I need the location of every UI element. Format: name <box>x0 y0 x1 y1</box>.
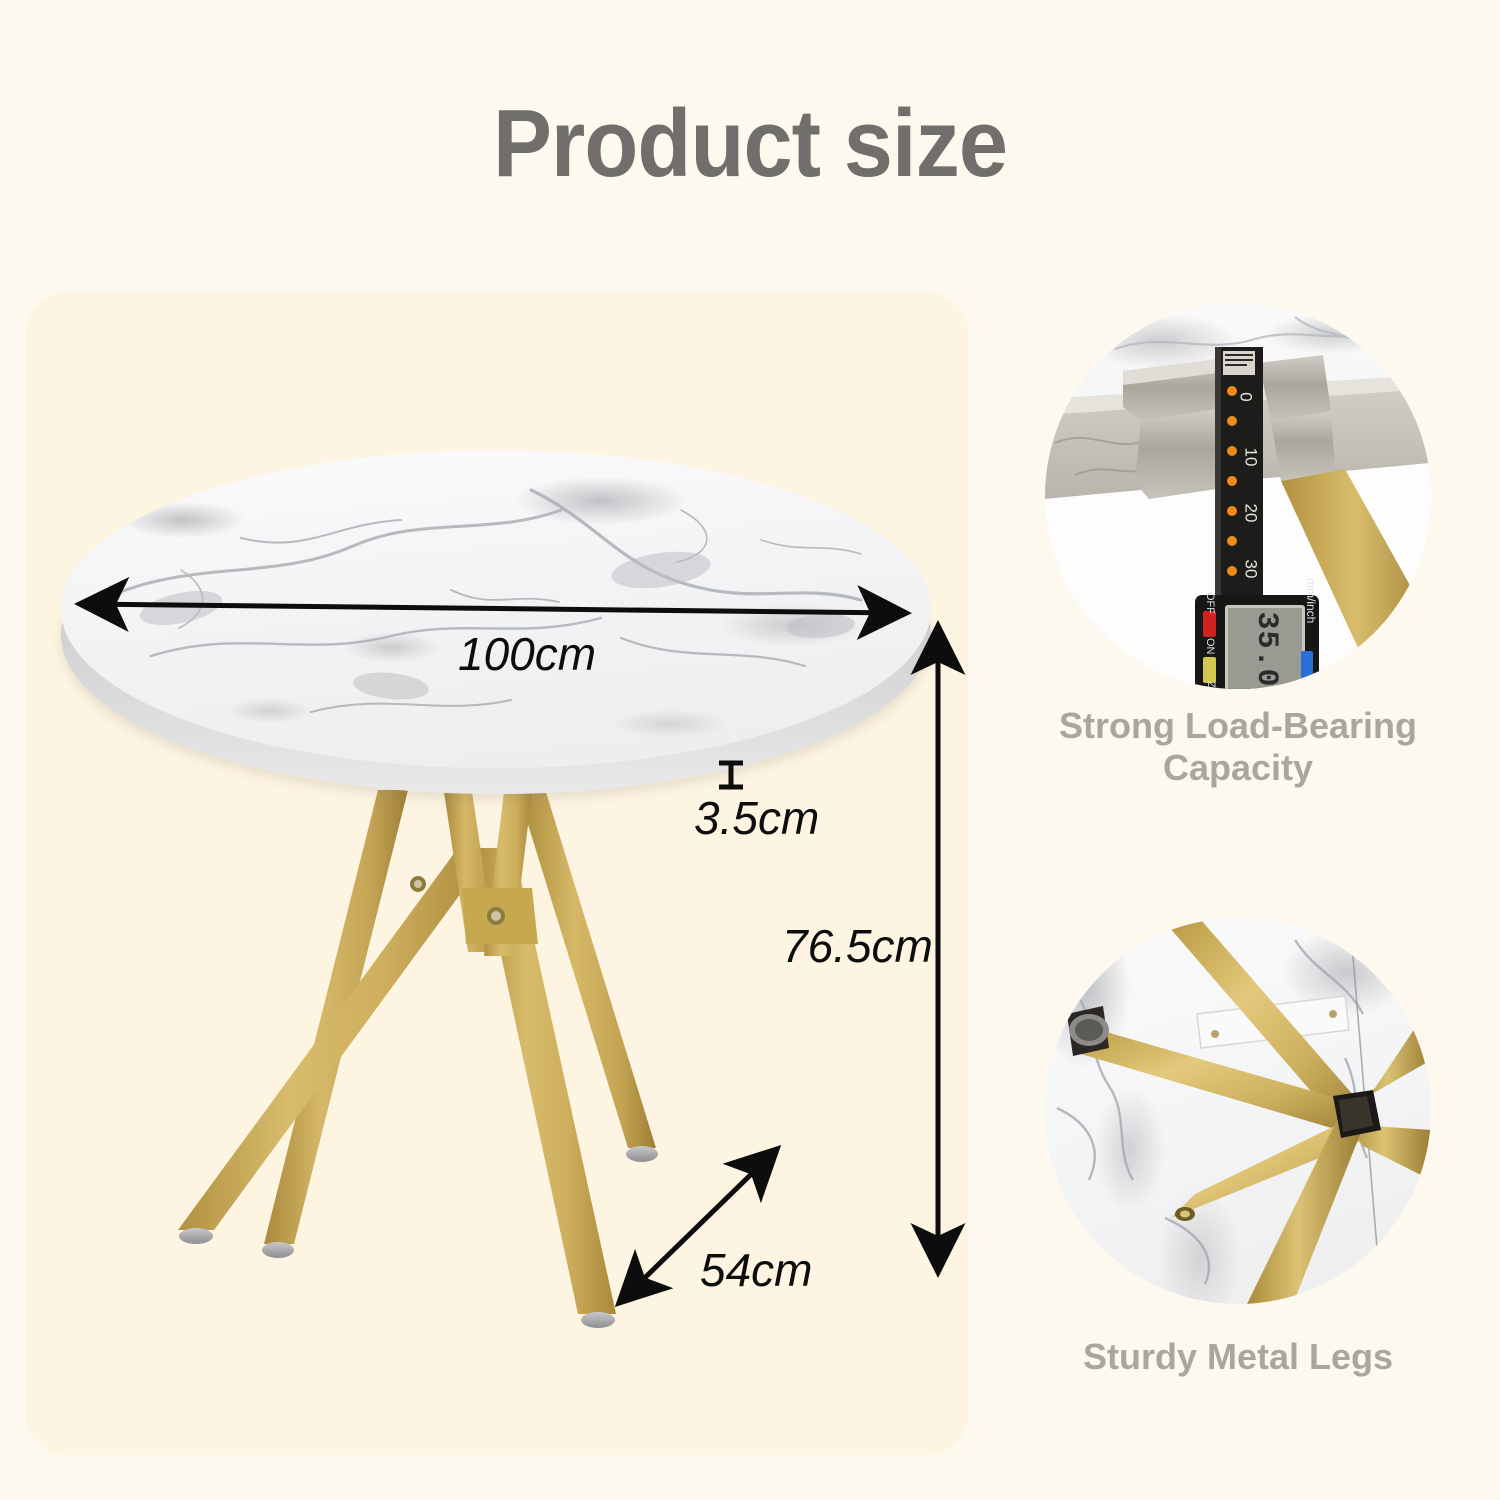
caliper-scale-tick-10: 10 <box>1240 448 1260 467</box>
caliper-reading: 35.00 <box>1249 607 1283 689</box>
caliper-zero-label: ZERO <box>1205 681 1217 689</box>
detail-caption-line1: Strong Load-Bearing <box>1059 705 1417 746</box>
marble-veins <box>61 450 931 768</box>
caliper-on-label: ON <box>1204 638 1216 664</box>
dimension-label-height: 76.5cm <box>782 919 933 973</box>
detail-caption-metal-legs: Sturdy Metal Legs <box>1013 1336 1463 1378</box>
tabletop <box>61 450 931 790</box>
caliper-scale-tick-0: 0 <box>1236 392 1256 401</box>
caliper-units-label: mm/inch <box>1304 578 1318 638</box>
caliper-photo: 0 10 20 30 35.00 OFF ON ZERO mm/inch <box>1045 303 1431 689</box>
caliper-head: 35.00 OFF ON ZERO mm/inch <box>1195 595 1319 689</box>
detail-caption-line1: Sturdy Metal Legs <box>1083 1336 1393 1377</box>
dimension-label-leg-spread: 54cm <box>700 1243 812 1297</box>
caliper-thumb-wheel[interactable] <box>1311 673 1337 689</box>
detail-caption-line2: Capacity <box>1163 747 1313 788</box>
page-title: Product size <box>60 96 1440 192</box>
detail-metal-legs: Sturdy Metal Legs <box>1045 918 1431 1408</box>
detail-caption-load-bearing: Strong Load-Bearing Capacity <box>1013 705 1463 789</box>
caliper-lcd: 35.00 <box>1225 605 1305 689</box>
tabletop-surface <box>61 450 931 768</box>
caliper-off-label: OFF <box>1204 592 1216 618</box>
detail-load-bearing: 0 10 20 30 35.00 OFF ON ZERO mm/inch <box>1045 303 1431 833</box>
dimension-label-diameter: 100cm <box>458 627 596 681</box>
infographic-canvas: Product size <box>0 0 1500 1500</box>
caliper-scale-tick-20: 20 <box>1240 504 1260 523</box>
legs-underside-graphic <box>1045 918 1431 1304</box>
table-illustration <box>26 292 968 1455</box>
caliper-scale-tick-30: 30 <box>1240 560 1260 579</box>
dimension-label-thickness: 3.5cm <box>694 791 819 845</box>
legs-underside-photo <box>1045 918 1431 1304</box>
